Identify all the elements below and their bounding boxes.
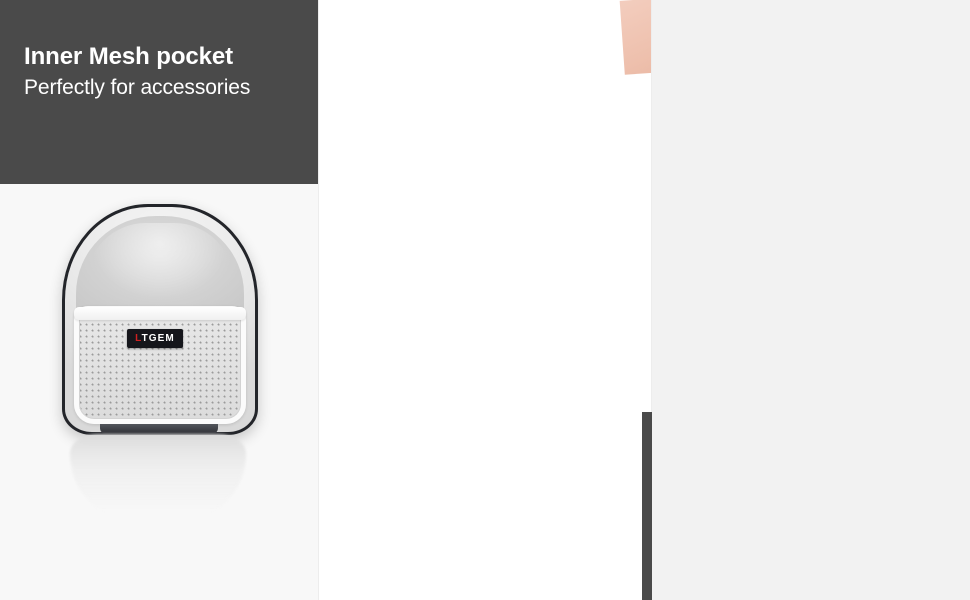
- left-case-reflection: [70, 434, 246, 520]
- column-divider-left: [318, 0, 319, 600]
- caption-panel-inner-mesh-pocket: Inner Mesh pocket Perfectly for accessor…: [0, 0, 318, 184]
- mesh-pocket-hem: [74, 307, 246, 320]
- caption-panel-detachable-hand-strap: Detachable Hand Strap For Portability: [642, 412, 652, 600]
- case-base-foot: [100, 424, 218, 434]
- brand-label-text: LTGEM: [135, 334, 175, 344]
- brand-label-rest: TGEM: [142, 333, 175, 344]
- center-column: Detachable Hand Strap For Portability: [318, 0, 652, 600]
- inner-mesh-pocket: [74, 306, 246, 424]
- left-column: LTGEM Inner Mesh pocket Perfectly for ac…: [0, 0, 318, 600]
- open-case-with-mesh-pocket: LTGEM: [62, 204, 258, 435]
- product-feature-collage: LTGEM Inner Mesh pocket Perfectly for ac…: [0, 0, 970, 600]
- forearm: [620, 0, 652, 75]
- left-product-photo: LTGEM: [0, 184, 318, 600]
- caption-subtitle-inner-mesh-pocket: Perfectly for accessories: [24, 76, 318, 100]
- brand-label-patch: LTGEM: [127, 329, 183, 348]
- right-column: LTGEM Smooth but Strong 360 degree zippe…: [652, 0, 970, 600]
- caption-title-inner-mesh-pocket: Inner Mesh pocket: [24, 44, 318, 70]
